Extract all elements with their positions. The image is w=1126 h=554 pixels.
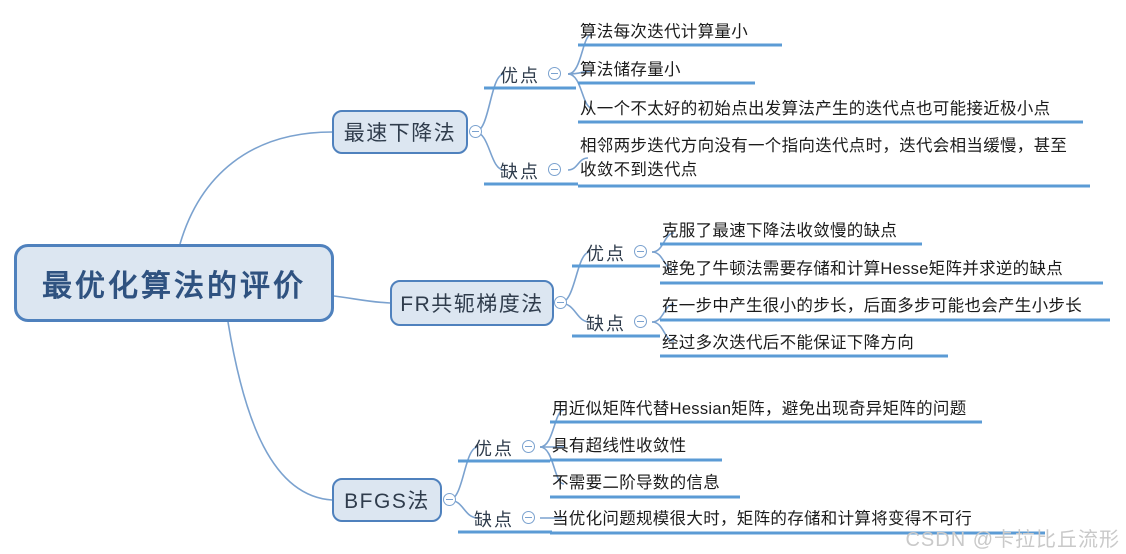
leaf-item[interactable]: 具有超线性收敛性 <box>552 434 686 458</box>
category-label-advantages[interactable]: 优点 <box>500 62 540 88</box>
root-node-label: 最优化算法的评价 <box>42 261 306 305</box>
category-label-advantages[interactable]: 优点 <box>586 240 626 266</box>
collapse-minus-icon[interactable] <box>443 493 456 506</box>
branch-node-steepest-descent[interactable]: 最速下降法 <box>332 110 468 154</box>
branch-node-label: FR共轭梯度法 <box>400 288 544 318</box>
wire-root-to-branch-2 <box>228 322 332 500</box>
branch-node-fr-conjugate-gradient[interactable]: FR共轭梯度法 <box>390 280 554 326</box>
category-label-text: 优点 <box>586 244 626 264</box>
category-label-text: 缺点 <box>586 314 626 334</box>
leaf-item[interactable]: 算法每次迭代计算量小 <box>580 20 748 44</box>
branch-node-label: 最速下降法 <box>344 117 457 147</box>
root-node[interactable]: 最优化算法的评价 <box>14 244 334 322</box>
leaf-item[interactable]: 相邻两步迭代方向没有一个指向迭代点时，迭代会相当缓慢，甚至 收敛不到迭代点 <box>580 134 1067 182</box>
category-label-text: 缺点 <box>474 510 514 530</box>
collapse-minus-icon[interactable] <box>554 296 567 309</box>
category-label-disadvantages[interactable]: 缺点 <box>474 506 514 532</box>
branch-node-label: BFGS法 <box>344 485 430 515</box>
branch-node-bfgs[interactable]: BFGS法 <box>332 478 442 522</box>
collapse-minus-icon[interactable] <box>548 67 561 80</box>
collapse-minus-icon[interactable] <box>634 315 647 328</box>
leaf-item[interactable]: 经过多次迭代后不能保证下降方向 <box>662 331 914 355</box>
leaf-item[interactable]: 用近似矩阵代替Hessian矩阵，避免出现奇异矩阵的问题 <box>552 397 967 421</box>
collapse-minus-icon[interactable] <box>522 440 535 453</box>
wire-root-to-branch-0 <box>180 132 332 244</box>
leaf-item[interactable]: 克服了最速下降法收敛慢的缺点 <box>662 219 897 243</box>
collapse-minus-icon[interactable] <box>522 511 535 524</box>
category-label-disadvantages[interactable]: 缺点 <box>586 310 626 336</box>
collapse-minus-icon[interactable] <box>548 163 561 176</box>
mindmap-canvas: 最优化算法的评价 最速下降法 优点 缺点 算法每次迭代计算量小 算法储存量小 从… <box>0 0 1126 554</box>
leaf-item[interactable]: 避免了牛顿法需要存储和计算Hesse矩阵并求逆的缺点 <box>662 257 1063 281</box>
leaf-item[interactable]: 不需要二阶导数的信息 <box>552 471 720 495</box>
collapse-minus-icon[interactable] <box>469 125 482 138</box>
category-label-text: 优点 <box>474 439 514 459</box>
category-label-text: 优点 <box>500 66 540 86</box>
wire-root-to-branch-1 <box>334 296 390 303</box>
watermark: CSDN @卡拉比丘流形 <box>905 523 1120 552</box>
category-label-text: 缺点 <box>500 162 540 182</box>
category-label-disadvantages[interactable]: 缺点 <box>500 158 540 184</box>
leaf-item[interactable]: 在一步中产生很小的步长，后面多步可能也会产生小步长 <box>662 294 1082 318</box>
category-label-advantages[interactable]: 优点 <box>474 435 514 461</box>
collapse-minus-icon[interactable] <box>634 245 647 258</box>
leaf-item[interactable]: 从一个不太好的初始点出发算法产生的迭代点也可能接近极小点 <box>580 97 1050 121</box>
leaf-item[interactable]: 算法储存量小 <box>580 58 681 82</box>
